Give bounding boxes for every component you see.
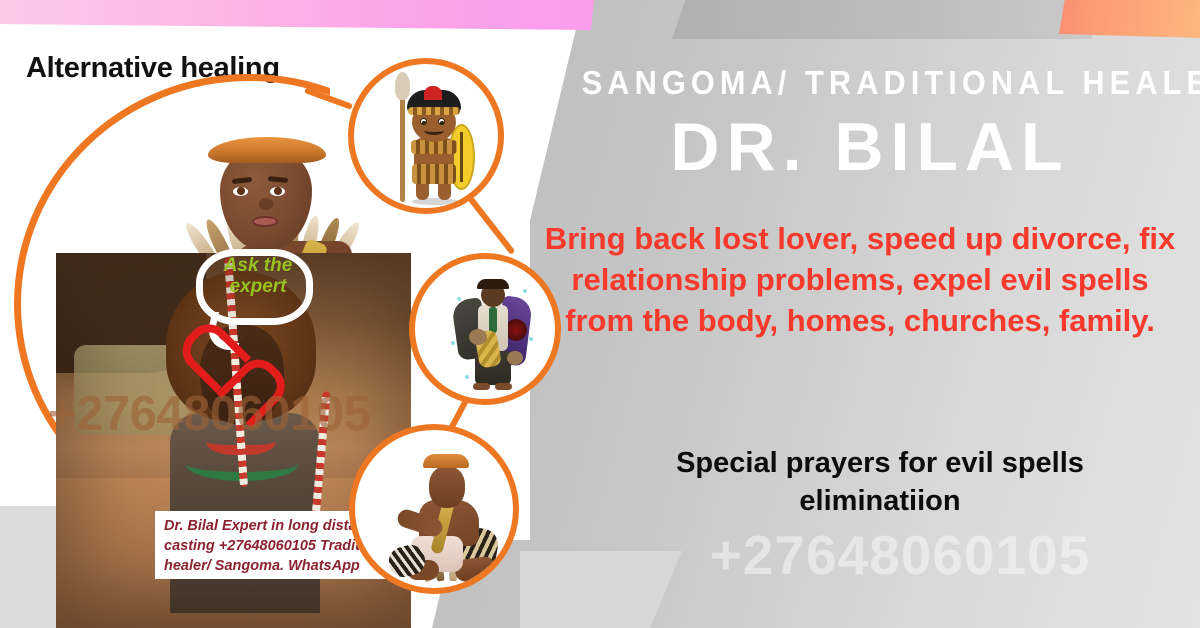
robed-healer-illustration [451, 279, 531, 389]
top-orange-strip [1059, 0, 1200, 38]
top-gray-strip [672, 0, 1092, 39]
sparkle-icon [457, 297, 461, 301]
robed-shoe-right [495, 383, 512, 390]
zulu-warrior-illustration [394, 80, 472, 202]
zulu-hair-accent [424, 86, 442, 100]
bottom-left-gray-block [0, 506, 57, 628]
warrior-nose [259, 198, 273, 210]
right-watermark-phone: +27648060105 [600, 523, 1200, 587]
zulu-skirt [412, 164, 456, 184]
sparkle-icon [465, 375, 469, 379]
poster-canvas: Alternative healing [0, 0, 1200, 628]
warrior-pupil-right [274, 187, 282, 195]
circle-crouching-warrior [349, 424, 519, 594]
circle-zulu-warrior [348, 58, 504, 214]
services-text: Bring back lost lover, speed up divorce,… [540, 218, 1180, 342]
robed-tie [489, 307, 497, 333]
prayers-text: Special prayers for evil spells eliminat… [600, 445, 1160, 520]
robed-orb [505, 319, 527, 341]
main-title: DR. BILAL [560, 108, 1180, 186]
photo-watermark-phone: +27648060105 [48, 386, 370, 442]
crouching-crown [423, 454, 469, 468]
zulu-headband [408, 107, 460, 115]
subtitle: SANGOMA/ TRADITIONAL HEALER [582, 64, 1159, 102]
zulu-pupil-left [422, 121, 426, 125]
heart-outline-icon [186, 333, 252, 393]
warrior-pupil-left [237, 187, 245, 195]
robed-shoe-left [473, 383, 490, 390]
crouching-warrior-illustration [385, 440, 503, 585]
speech-bubble-label: Ask the expert [204, 255, 312, 298]
zulu-leg-right [438, 182, 451, 200]
zulu-smile [424, 126, 444, 135]
zulu-shield-line [460, 132, 463, 182]
circle-robed-healer [409, 253, 561, 405]
zulu-tunic [411, 140, 457, 154]
sparkle-icon [529, 337, 533, 341]
robed-bag-left [469, 329, 487, 345]
zulu-leg-left [416, 182, 429, 200]
zulu-pupil-right [440, 121, 444, 125]
sparkle-icon [523, 289, 527, 293]
crouching-head [429, 466, 465, 508]
sparkle-icon [451, 341, 455, 345]
warrior-crown [208, 137, 326, 163]
warrior-mouth [252, 216, 278, 227]
robed-hat [477, 279, 509, 289]
robed-bag-right [507, 351, 523, 365]
zulu-spear-tip [395, 72, 410, 100]
